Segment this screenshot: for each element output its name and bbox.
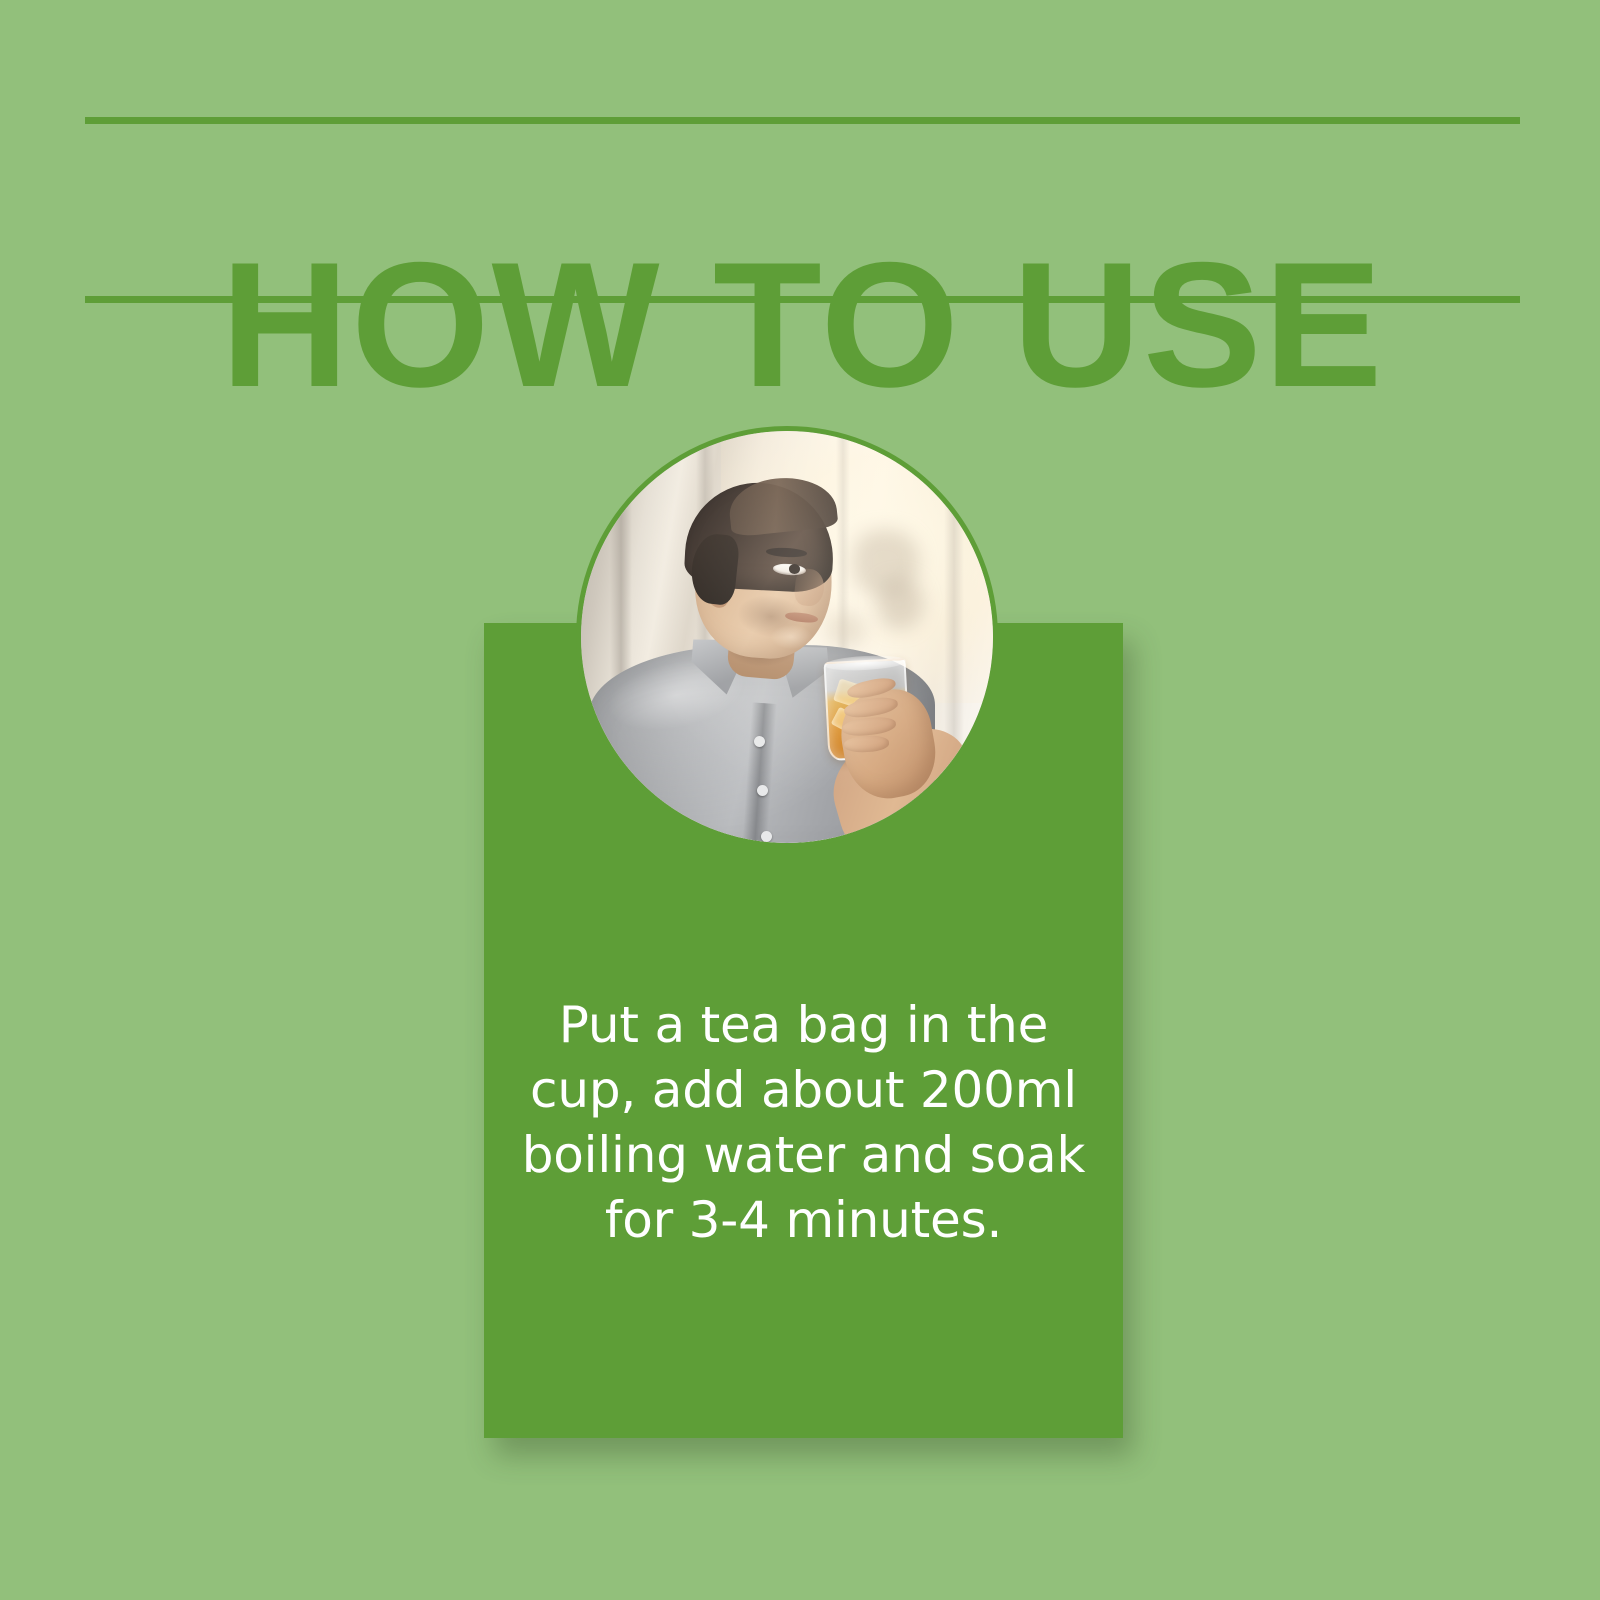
- chin-highlight: [771, 625, 812, 650]
- page-title: HOW TO USE: [85, 235, 1520, 415]
- header-rule-top: [85, 117, 1520, 124]
- instruction-text: Put a tea bag in the cup, add about 200m…: [514, 993, 1093, 1253]
- shirt-button: [761, 831, 772, 842]
- header-rule-bottom: [85, 296, 1520, 303]
- photo-scene: [581, 431, 993, 843]
- header: HOW TO USE: [85, 110, 1520, 305]
- avatar-photo: [581, 431, 993, 843]
- poster-canvas: HOW TO USE Put a tea bag in the cup, add…: [0, 0, 1600, 1600]
- background-blur-shape: [878, 579, 923, 628]
- avatar: [576, 426, 998, 848]
- shirt-button: [754, 736, 765, 747]
